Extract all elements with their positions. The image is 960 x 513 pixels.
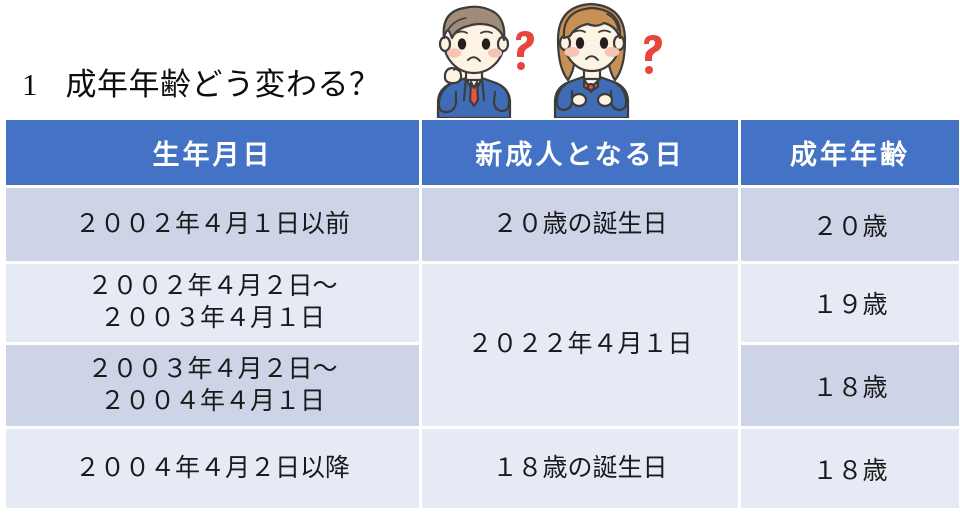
cell-birthdate-3: ２００３年４月２日〜 ２００４年４月１日 — [6, 345, 419, 426]
column-header-new-adult-day: 新成人となる日 — [422, 120, 738, 185]
table-row: ２００２年４月２日〜 ２００３年４月１日 ２０２２年４月１日 １９歳 — [6, 264, 959, 342]
cell-line: ２０２２年４月１日 — [422, 329, 738, 361]
cell-new-adult-day-merged: ２０２２年４月１日 — [422, 264, 738, 426]
cell-age-1: ２０歳 — [741, 188, 959, 261]
cell-line: ２００３年４月１日 — [6, 303, 419, 335]
table-row: ２００２年４月１日以前 ２０歳の誕生日 ２０歳 — [6, 188, 959, 261]
two-puzzled-students-illustration — [408, 0, 678, 118]
cell-new-adult-day-1: ２０歳の誕生日 — [422, 188, 738, 261]
table-header-row: 生年月日 新成人となる日 成年年齢 — [6, 120, 959, 185]
cell-line: ２００３年４月２日〜 — [6, 354, 419, 386]
cell-line: １８歳の誕生日 — [422, 453, 738, 485]
cell-line: ２００２年４月１日以前 — [6, 209, 419, 241]
cell-line: ２００２年４月２日〜 — [6, 271, 419, 303]
cell-birthdate-4: ２００４年４月２日以降 — [6, 429, 419, 508]
cell-line: ２００４年４月１日 — [6, 386, 419, 418]
cell-new-adult-day-4: １８歳の誕生日 — [422, 429, 738, 508]
column-header-birthdate: 生年月日 — [6, 120, 419, 185]
column-header-age-of-majority: 成年年齢 — [741, 120, 959, 185]
cell-line: ２０歳の誕生日 — [422, 209, 738, 241]
cell-birthdate-2: ２００２年４月２日〜 ２００３年４月１日 — [6, 264, 419, 342]
cell-age-4: １８歳 — [741, 429, 959, 508]
page-title: 1 成年年齢どう変わる？ — [22, 58, 381, 110]
cell-line: ２００４年４月２日以降 — [6, 453, 419, 485]
table-row: ２００４年４月２日以降 １８歳の誕生日 １８歳 — [6, 429, 959, 508]
cell-age-2: １９歳 — [741, 264, 959, 342]
age-of-majority-table-wrapper: 生年月日 新成人となる日 成年年齢 ２００２年４月１日以前 ２０歳の誕生日 ２０… — [6, 120, 953, 513]
cell-birthdate-1: ２００２年４月１日以前 — [6, 188, 419, 261]
cell-age-3: １８歳 — [741, 345, 959, 426]
slide-page: 1 成年年齢どう変わる？ — [0, 0, 960, 513]
age-of-majority-table: 生年月日 新成人となる日 成年年齢 ２００２年４月１日以前 ２０歳の誕生日 ２０… — [3, 117, 960, 511]
title-text: 成年年齢どう変わる？ — [66, 69, 381, 100]
title-number: 1 — [22, 69, 38, 100]
